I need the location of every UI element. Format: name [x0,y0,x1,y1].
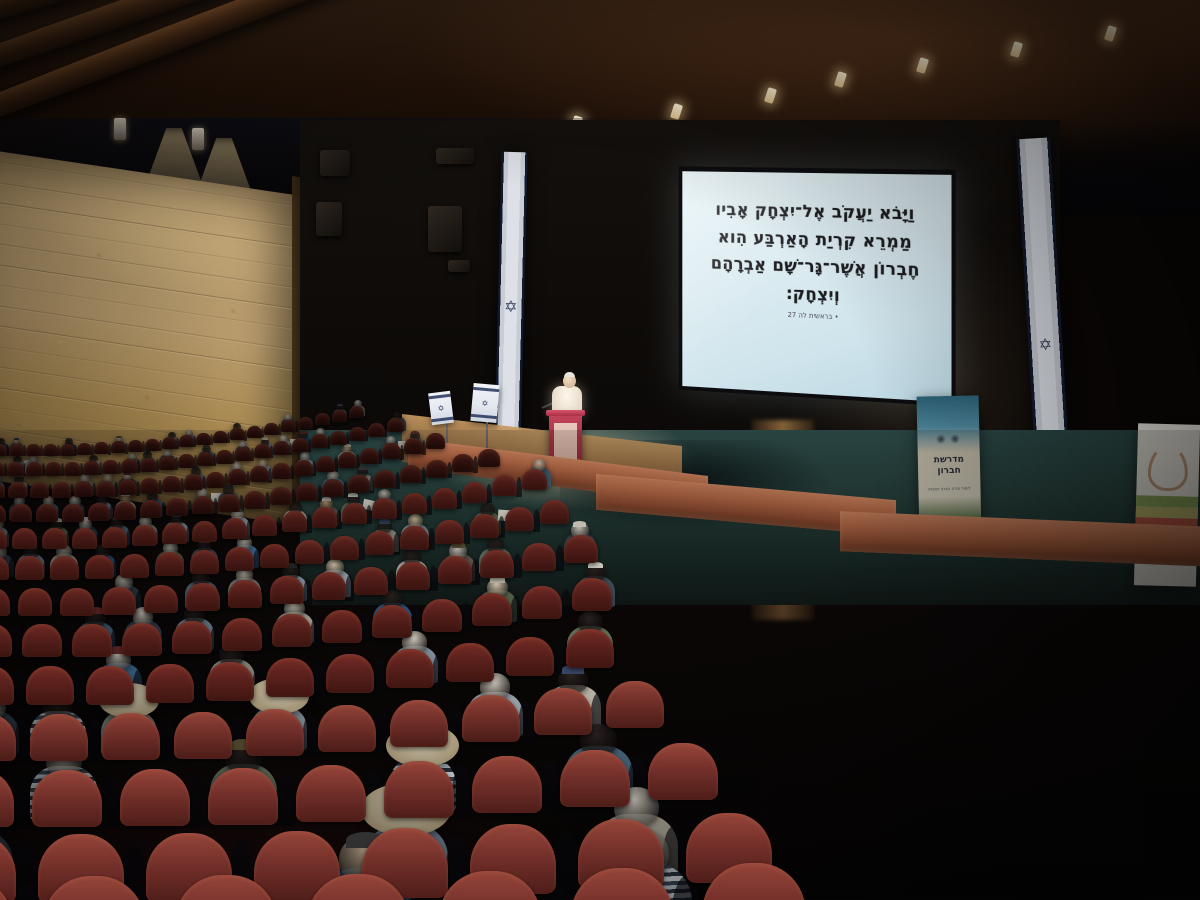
theater-seat [64,462,81,476]
auditorium-photo: ✡ ✡ ✡ וַיָּבֹא יַעֲקֹב אֶל־יִצְחָק אָבִי… [0,0,1200,900]
theater-seat [315,413,330,425]
theater-seat [452,454,474,472]
theater-seat [85,555,114,579]
theater-seat [349,406,364,418]
kippa [262,437,268,440]
theater-seat [145,439,160,451]
flag-stripe-bottom [431,417,453,423]
seat-gap [372,658,386,694]
seat-gap [345,575,354,601]
theater-seat [52,482,71,498]
theater-seat [322,610,362,643]
theater-seat [260,544,289,568]
theater-seat [174,712,232,759]
theater-seat [190,550,219,574]
theater-seat [102,713,160,760]
theater-seat [396,562,430,590]
theater-seat [270,576,304,604]
theater-seat [374,470,396,488]
seat-gap [72,670,86,706]
theater-seat [122,623,162,656]
theater-seat [120,769,190,826]
theater-seat [102,460,119,474]
theater-seat [222,518,247,539]
theater-seat [86,666,134,705]
theater-seat [294,460,313,476]
theater-seat [60,588,94,616]
seat-gap [460,602,472,632]
theater-seat [247,426,262,438]
theater-seat [354,567,388,595]
theater-seat [462,482,487,503]
theater-seat [213,431,228,443]
theater-seat [348,475,370,493]
theater-seat [94,442,109,454]
seat-gap [12,670,26,706]
theater-seat [184,474,203,490]
theater-seat [10,504,32,522]
theater-seat [32,770,102,827]
kippa [573,521,586,526]
kippa [203,445,209,448]
seat-gap [158,718,174,761]
theater-seat [330,536,359,560]
theater-seat [560,750,630,807]
theater-seat [72,624,112,657]
theater-seat [522,543,556,571]
seat-gap [518,700,534,743]
theater-seat [42,528,67,549]
seat-gap [10,627,22,657]
theater-seat [273,441,290,455]
theater-seat [120,554,149,578]
seat-gap [261,583,270,609]
seat-gap [160,626,172,656]
seat-gap [11,776,32,828]
theater-seat [26,462,43,476]
seat-gap [360,613,372,643]
theater-seat [326,654,374,693]
ceiling-spotlight [764,87,777,104]
seat-gap [86,719,102,762]
seat-gap [555,545,564,571]
theater-seat [206,472,225,488]
speaker-box-4 [428,206,462,252]
seat-gap [312,662,326,698]
theater-seat [74,481,93,497]
theater-seat [192,496,214,514]
theater-seat [312,507,337,528]
theater-seat [316,456,335,472]
theater-seat [480,550,514,578]
theater-seat [111,441,126,453]
theater-seat [386,649,434,688]
theater-seat [0,770,14,827]
seat-gap [432,653,446,689]
theater-seat [382,443,401,459]
theater-seat [50,556,79,580]
seat-gap [303,579,312,605]
theater-seat [228,469,247,485]
theater-seat [296,483,318,501]
theater-seat [140,458,157,472]
seat-gap [275,773,296,825]
theater-seat [292,438,309,452]
theater-seat [338,452,357,468]
theater-seat [12,528,37,549]
theater-seat [365,531,394,555]
theater-seat [144,585,178,613]
theater-seat [172,621,212,654]
theater-seat [36,504,58,522]
theater-seat [462,695,520,742]
theater-seat [246,709,304,756]
theater-seat [114,502,136,520]
theater-seat [400,526,429,550]
star-of-david-icon: ✡ [503,300,519,316]
theater-seat [372,498,397,519]
theater-seat [45,462,62,476]
theater-seat [540,500,569,524]
slide-content: וַיָּבֹא יַעֲקֹב אֶל־יִצְחָק אָבִיו מַמְ… [682,171,951,402]
seat-gap [451,766,472,818]
flag-stripe-bottom [471,414,497,419]
theater-seat [208,768,278,825]
theater-seat [178,454,195,468]
theater-seat [7,462,24,476]
seat-gap [302,714,318,757]
theater-seat [281,420,296,432]
theater-seat [162,476,181,492]
theater-seat [472,756,542,813]
theater-seat [197,452,214,466]
wall-spot-fixture-1 [114,118,126,140]
kippa [116,436,122,438]
seat-gap [14,719,30,762]
theater-seat [0,624,12,657]
audience-seating [0,430,1200,900]
theater-seat [330,431,347,445]
theater-seat [159,456,176,470]
theater-seat [235,447,252,461]
theater-seat [312,572,346,600]
seat-gap [192,668,206,704]
kippa [348,493,357,497]
theater-seat [318,705,376,752]
theater-seat [492,475,517,496]
theater-seat [166,498,188,516]
theater-seat [426,460,448,478]
theater-seat [506,637,554,676]
projection-screen: וַיָּבֹא יַעֲקֹב אֶל־יִצְחָק אָבִיו מַמְ… [679,166,956,407]
theater-seat [400,465,422,483]
kippa [337,404,343,406]
kippa [66,438,72,440]
theater-seat [254,444,271,458]
theater-seat [606,681,664,728]
theater-seat [222,618,262,651]
theater-seat [368,423,385,437]
star-of-david-icon: ✡ [437,405,445,414]
theater-seat [564,535,598,563]
kippa [145,451,151,454]
theater-seat [422,599,462,632]
theater-seat [426,433,445,449]
theater-seat [216,450,233,464]
theater-seat [272,614,312,647]
theater-seat [438,556,472,584]
theater-seat [121,459,138,473]
seat-gap [9,591,18,617]
theater-seat [8,482,27,498]
theater-seat [30,482,49,498]
theater-seat [228,580,262,608]
theater-seat [402,493,427,514]
kippa [379,519,390,524]
speaker-box-1 [320,150,350,176]
theater-seat [372,605,412,638]
theater-seat [390,700,448,747]
theater-seat [230,428,245,440]
theater-seat [62,504,84,522]
speaker-box-3 [436,148,474,164]
podium-top [546,410,585,416]
theater-seat [43,444,58,456]
seat-gap [60,627,72,657]
wall-spot-fixture-2 [192,128,204,150]
theater-seat [0,666,14,705]
theater-seat [118,479,137,495]
seat-gap [51,591,60,617]
theater-seat [522,469,547,490]
seat-gap [510,596,522,626]
theater-seat [270,487,292,505]
theater-seat [296,765,366,822]
theater-seat [566,629,614,668]
theater-seat [9,444,24,456]
seat-gap [187,775,208,827]
theater-seat [18,588,52,616]
theater-seat [77,443,92,455]
theater-seat [272,463,291,479]
theater-seat [88,503,110,521]
theater-seat [470,514,499,538]
theater-seat [146,664,194,703]
theater-seat [648,743,718,800]
kippa [411,431,418,434]
theater-seat [432,488,457,509]
theater-seat [384,761,454,818]
seat-gap [219,586,228,612]
theater-seat [225,547,254,571]
theater-seat [266,658,314,697]
kippa [322,497,331,501]
banner-color-stripes [1138,423,1200,425]
theater-seat [218,494,240,512]
theater-seat [244,491,266,509]
theater-seat [15,556,44,580]
theater-seat [26,666,74,705]
theater-seat [360,448,379,464]
seat-gap [560,589,572,619]
theater-seat [72,528,97,549]
theater-seat [332,410,347,422]
kippa [359,466,367,469]
theater-seat [572,578,612,611]
flag-stripe-top [428,394,450,400]
theater-seat [102,587,136,615]
theater-seat [387,418,404,432]
theater-seat [206,662,254,701]
star-of-david-icon: ✡ [1037,338,1054,355]
theater-seat [96,481,115,497]
theater-seat [522,586,562,619]
theater-seat [282,511,307,532]
ceiling-spotlight [834,71,847,88]
theater-seat [342,503,367,524]
theater-seat [60,444,75,456]
ceiling-spotlight [1010,41,1023,58]
theater-seat [102,527,127,548]
theater-seat [404,438,423,454]
ceiling-spotlight [1104,25,1117,42]
theater-seat [162,437,177,449]
theater-seat [0,588,10,616]
seat-gap [539,761,560,813]
theater-seat [83,461,100,475]
theater-seat [295,540,324,564]
theater-seat [478,449,500,467]
seat-gap [513,553,522,579]
theater-seat [30,714,88,761]
theater-seat [0,504,6,522]
theater-seat [322,479,344,497]
theater-seat [155,552,184,576]
theater-seat [132,525,157,546]
theater-seat [22,624,62,657]
flag-stripe-top [473,387,499,392]
theater-seat [250,466,269,482]
theater-seat [186,583,220,611]
speaker-box-5 [448,260,470,272]
theater-seat [196,433,211,445]
theater-seat [26,444,41,456]
theater-seat [446,643,494,682]
seat-gap [429,565,438,591]
theater-seat [192,521,217,542]
theater-seat [505,507,534,531]
star-of-david-icon: ✡ [481,400,488,409]
small-israeli-flag-1: ✡ [428,391,454,425]
theater-seat [472,593,512,626]
theater-seat [252,515,277,536]
ceiling-spotlight [916,57,929,74]
kippa [224,485,232,488]
screen-surface: וַיָּבֹא יַעֲקֹב אֶל־יִצְחָק אָבִיו מַמְ… [682,171,951,402]
theater-seat [128,440,143,452]
theater-seat [140,478,159,494]
speaker-box-2 [316,202,342,236]
seat-gap [99,776,120,828]
kippa [300,431,306,434]
theater-seat [264,423,279,435]
theater-seat [435,520,464,544]
theater-seat [534,688,592,735]
theater-seat [179,435,194,447]
theater-seat [311,434,328,448]
speaker-kippa [564,372,575,377]
seat-gap [310,617,322,647]
theater-seat [162,523,187,544]
small-israeli-flag-2: ✡ [470,383,499,423]
theater-seat [298,417,313,429]
theater-seat [140,500,162,518]
theater-seat [349,427,366,441]
seat-gap [260,621,272,651]
